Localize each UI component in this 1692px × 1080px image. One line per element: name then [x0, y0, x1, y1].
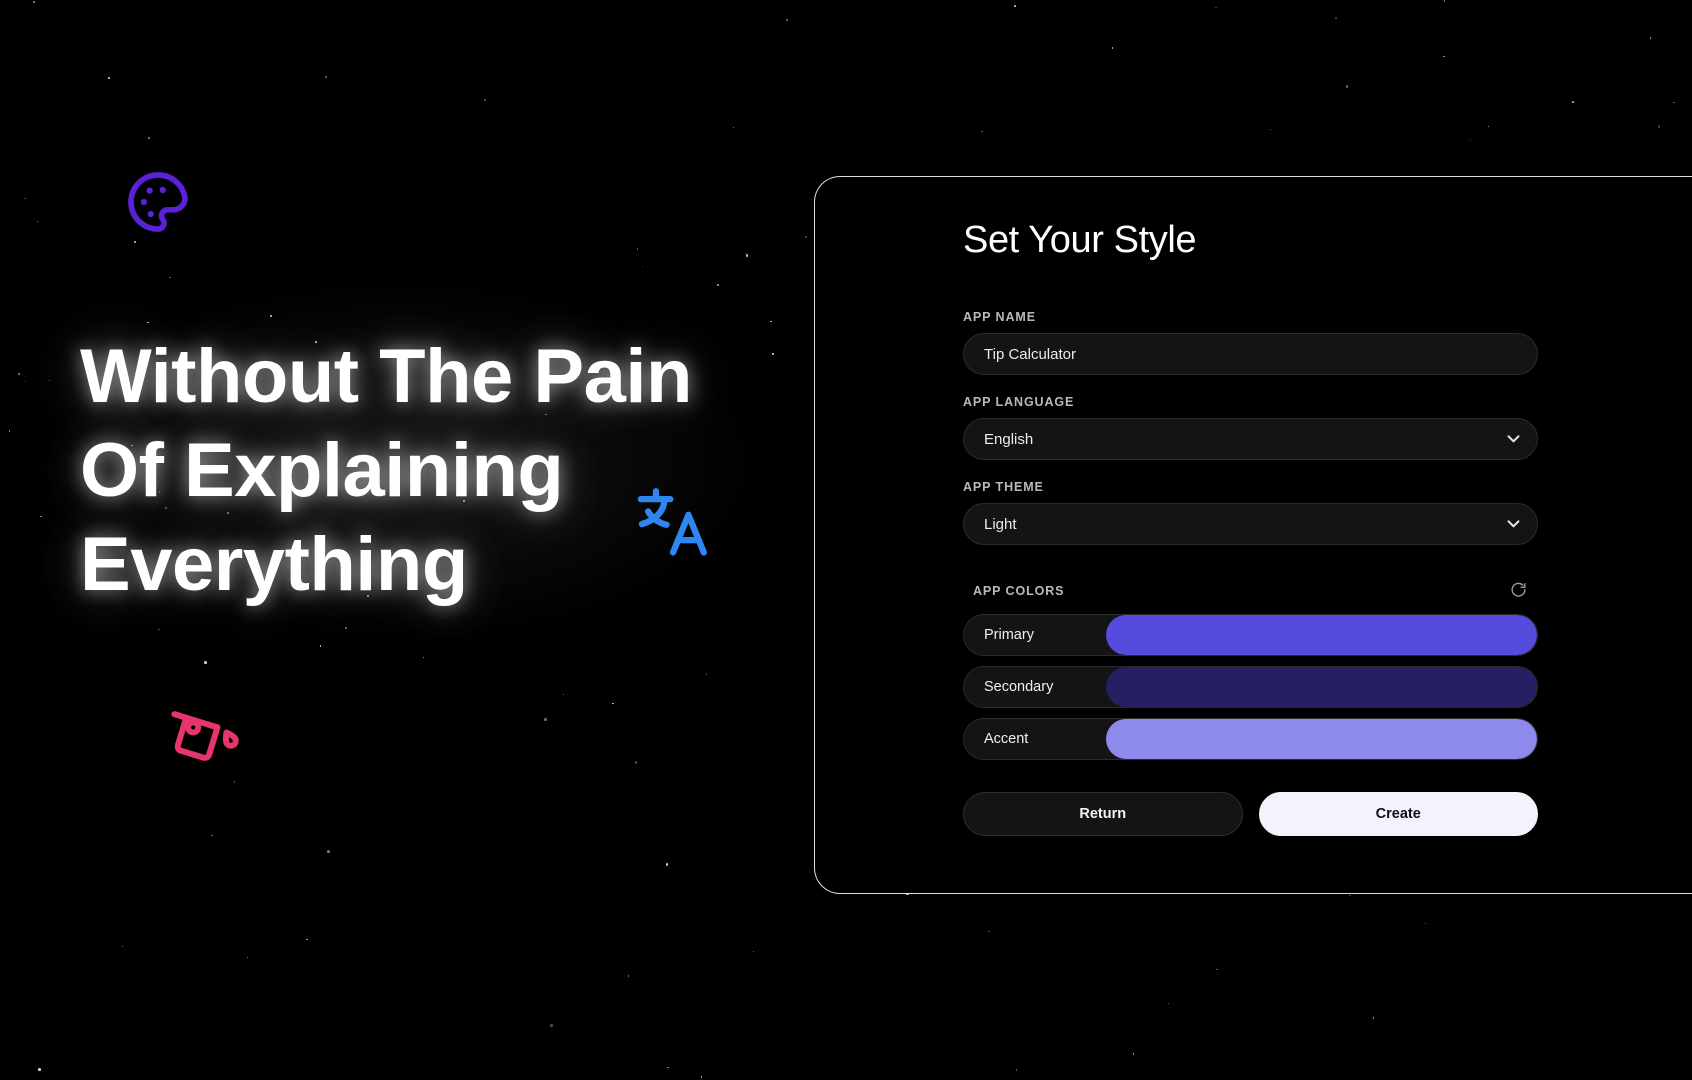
app-language-select[interactable]: EnglishSpanishFrenchGermanJapanese	[963, 418, 1538, 460]
star	[1572, 101, 1574, 103]
app-name-label: APP NAME	[963, 310, 1538, 324]
color-row-label: Accent	[964, 719, 1106, 759]
color-row-label: Secondary	[964, 667, 1106, 707]
color-row: Secondary	[963, 666, 1538, 708]
headline-line-1: Without The Pain	[80, 330, 760, 424]
star	[1650, 37, 1652, 39]
palette-icon	[122, 166, 194, 243]
star	[1014, 5, 1016, 7]
field-app-language: APP LANGUAGE EnglishSpanishFrenchGermanJ…	[963, 395, 1538, 460]
color-swatch-accent[interactable]	[1106, 719, 1537, 759]
star	[1168, 1003, 1170, 1005]
star	[1346, 85, 1349, 88]
field-app-name: APP NAME	[963, 310, 1538, 375]
star	[1349, 895, 1351, 897]
page-headline: Without The Pain Of Explaining Everythin…	[80, 330, 760, 613]
star	[1016, 1069, 1018, 1071]
hero-section: Without The Pain Of Explaining Everythin…	[0, 0, 800, 1080]
paint-bucket-icon	[160, 700, 238, 783]
headline-line-2: Of Explaining	[80, 424, 760, 518]
star	[1470, 139, 1472, 141]
reset-colors-button[interactable]	[1507, 579, 1530, 602]
panel-actions: Return Create	[963, 792, 1538, 836]
star	[1373, 1017, 1375, 1019]
star	[1215, 7, 1217, 9]
page-title: Set Your Style	[963, 219, 1538, 262]
field-app-theme: APP THEME LightDarkSystem	[963, 480, 1538, 545]
app-language-select-wrap[interactable]: EnglishSpanishFrenchGermanJapanese	[963, 418, 1538, 460]
color-row: Accent	[963, 718, 1538, 760]
app-name-input[interactable]	[964, 334, 1537, 374]
return-button[interactable]: Return	[963, 792, 1243, 836]
settings-panel-content: Set Your Style APP NAME APP LANGUAGE Eng…	[963, 219, 1538, 836]
star	[1335, 17, 1337, 19]
create-button[interactable]: Create	[1259, 792, 1539, 836]
app-theme-select[interactable]: LightDarkSystem	[963, 503, 1538, 545]
color-swatch-primary[interactable]	[1106, 615, 1537, 655]
app-colors-header: APP COLORS	[963, 579, 1538, 602]
star	[1658, 125, 1661, 128]
star	[1133, 1053, 1135, 1055]
app-theme-label: APP THEME	[963, 480, 1538, 494]
star	[1112, 47, 1114, 49]
reset-icon	[1509, 588, 1528, 603]
star	[1216, 969, 1218, 971]
star	[1443, 56, 1445, 58]
star	[1488, 126, 1490, 128]
star	[1270, 129, 1272, 131]
star	[988, 931, 990, 933]
color-swatch-secondary[interactable]	[1106, 667, 1537, 707]
app-name-input-wrap[interactable]	[963, 333, 1538, 375]
star	[981, 131, 983, 133]
star	[1425, 923, 1427, 925]
app-theme-select-wrap[interactable]: LightDarkSystem	[963, 503, 1538, 545]
star	[1444, 0, 1446, 2]
color-rows: PrimarySecondaryAccent	[963, 614, 1538, 760]
app-colors-label: APP COLORS	[973, 584, 1064, 598]
color-row-label: Primary	[964, 615, 1106, 655]
settings-panel: Set Your Style APP NAME APP LANGUAGE Eng…	[814, 176, 1692, 894]
app-root: Without The Pain Of Explaining Everythin…	[0, 0, 1692, 1080]
star	[1673, 102, 1675, 104]
headline-line-3: Everything	[80, 518, 760, 612]
app-language-label: APP LANGUAGE	[963, 395, 1538, 409]
color-row: Primary	[963, 614, 1538, 656]
star	[805, 236, 807, 238]
